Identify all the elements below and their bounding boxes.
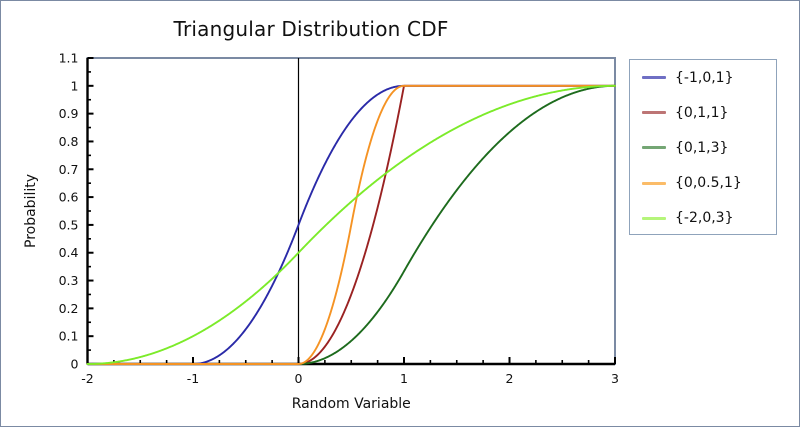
y-tick-label: 0.8: [59, 134, 79, 149]
y-tick-label: 0.9: [59, 106, 79, 121]
legend-item[interactable]: {-2,0,3}: [630, 201, 776, 236]
legend-item[interactable]: {0,1,1}: [630, 95, 776, 130]
legend-color-swatch: [642, 111, 666, 114]
legend-color-swatch: [642, 76, 666, 79]
y-tick-label: 0.1: [59, 329, 79, 344]
y-axis-title: Probability: [23, 174, 39, 248]
y-tick-label: 0.3: [59, 273, 79, 288]
legend-color-swatch: [642, 146, 666, 149]
legend-item[interactable]: {0,0.5,1}: [630, 166, 776, 201]
y-tick-label: 0.6: [59, 190, 79, 205]
legend-item[interactable]: {0,1,3}: [630, 130, 776, 165]
legend-item-label: {-2,0,3}: [675, 210, 734, 226]
x-tick-label: 1: [400, 371, 408, 386]
x-axis-title: Random Variable: [292, 396, 411, 412]
chart-legend: {-1,0,1}{0,1,1}{0,1,3}{0,0.5,1}{-2,0,3}: [629, 59, 777, 235]
x-tick-label: 3: [611, 371, 619, 386]
x-tick-label: 0: [295, 371, 303, 386]
chart-figure: Triangular Distribution CDF 00.10.20.30.…: [0, 0, 800, 427]
y-tick-label: 0.2: [59, 301, 79, 316]
y-tick-label: 0.7: [59, 162, 79, 177]
y-tick-label: 0: [71, 357, 79, 372]
legend-item-label: {-1,0,1}: [675, 70, 734, 86]
legend-item-label: {0,0.5,1}: [675, 175, 742, 191]
y-tick-label: 0.5: [59, 217, 79, 232]
legend-color-swatch: [642, 217, 666, 220]
legend-color-swatch: [642, 182, 666, 185]
x-tick-label: 2: [506, 371, 514, 386]
legend-item-label: {0,1,1}: [675, 105, 728, 121]
series-line-3: [88, 86, 616, 364]
legend-item-label: {0,1,3}: [675, 140, 728, 156]
y-tick-label: 1: [71, 78, 79, 93]
legend-item[interactable]: {-1,0,1}: [630, 60, 776, 95]
y-tick-label: 1.1: [59, 51, 79, 66]
y-tick-label: 0.4: [59, 245, 79, 260]
x-tick-label: -1: [187, 371, 199, 386]
x-tick-label: -2: [81, 371, 93, 386]
plot-frame: [88, 58, 616, 364]
